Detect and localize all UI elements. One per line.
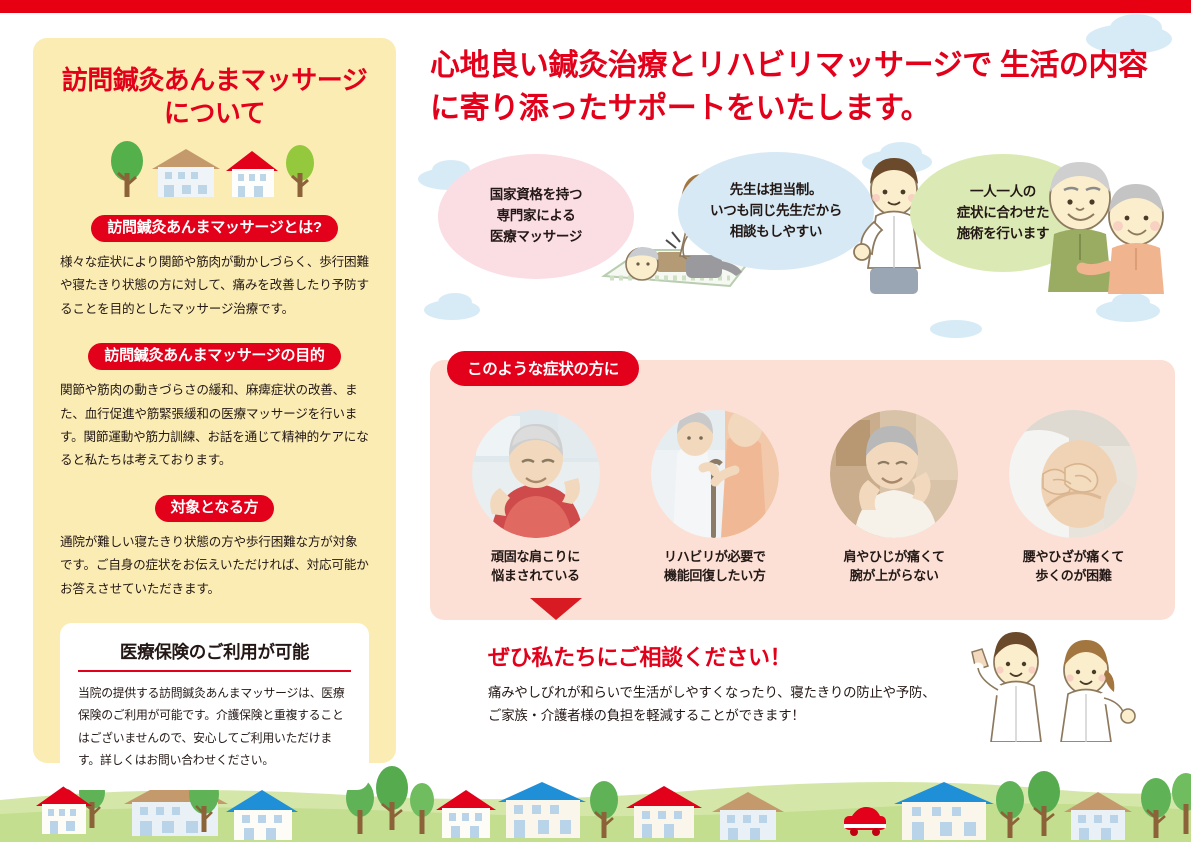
feature-bubble-qualified-label: 国家資格を持つ 専門家による 医療マッサージ [490,185,582,248]
symptom-item: 肩やひじが痛くて 腕が上がらない [811,410,978,586]
about-section-definition: 訪問鍼灸あんまマッサージとは? 様々な症状により関節や筋肉が動かしづらく、歩行困… [60,215,369,321]
feature-bubbles: 国家資格を持つ 専門家による 医療マッサージ [430,146,1175,311]
symptom-item: 腰やひざが痛くて 歩くのが困難 [990,410,1157,586]
cloud-icon [1110,14,1162,42]
elderly-woman-shoulder-pain-photo [472,410,600,538]
section-body-definition: 様々な症状により関節や筋肉が動かしづらく、歩行困難や寝たきり状態の方に対して、痛… [60,251,369,321]
insurance-title: 医療保険のご利用が可能 [78,639,351,672]
about-section-eligibility: 対象となる方 通院が難しい寝たきり状態の方や歩行困難な方が対象です。ご自身の症状… [60,495,369,601]
houses-and-trees-icon [60,139,369,201]
elderly-couple-icon [1028,154,1178,294]
cloud-icon [930,320,982,338]
symptom-item: 頑固な肩こりに 悩まされている [452,410,619,586]
main-headline: 心地良い鍼灸治療とリハビリマッサージで 生活の内容に寄り添ったサポートをいたしま… [430,45,1175,130]
elderly-woman-elbow-pain-photo [830,410,958,538]
main-content: 心地良い鍼灸治療とリハビリマッサージで 生活の内容に寄り添ったサポートをいたしま… [430,45,1175,311]
symptom-caption: リハビリが必要で 機能回復したい方 [631,548,798,586]
rehabilitation-walking-cane-photo [651,410,779,538]
page-title: 訪問鍼灸あんまマッサージ について [60,64,369,131]
symptom-caption: 腰やひざが痛くて 歩くのが困難 [990,548,1157,586]
feature-bubble-individual-care-label: 一人一人の 症状に合わせた 施術を行います [957,182,1049,245]
section-heading-eligibility: 対象となる方 [155,495,275,523]
about-panel: 訪問鍼灸あんまマッサージ について [33,38,396,763]
consultation-callout: ぜひ私たちにご相談ください！ 痛みやしびれが和らいで生活がしやすくなったり、寝た… [466,622,1142,742]
section-heading-purpose: 訪問鍼灸あんまマッサージの目的 [88,343,340,371]
symptoms-heading: このような症状の方に [447,351,639,386]
about-section-purpose: 訪問鍼灸あんまマッサージの目的 関節や筋肉の動きづらさの緩和、麻痺症状の改善、ま… [60,343,369,473]
insurance-card: 医療保険のご利用が可能 当院の提供する訪問鍼灸あんまマッサージは、医療保険のご利… [60,623,369,790]
symptoms-panel: このような症状の方に [430,360,1175,620]
two-staff-waving-icon [970,626,1136,742]
feature-bubble-same-therapist-label: 先生は担当制。 いつも同じ先生だから 相談もしやすい [710,180,842,243]
symptom-caption: 頑固な肩こりに 悩まされている [452,548,619,586]
feature-bubble-same-therapist: 先生は担当制。 いつも同じ先生だから 相談もしやすい [678,152,874,270]
top-accent-bar [0,0,1191,13]
insurance-body: 当院の提供する訪問鍼灸あんまマッサージは、医療保険のご利用が可能です。介護保険と… [78,682,351,772]
symptoms-photo-row: 頑固な肩こりに 悩まされている [452,410,1157,586]
section-body-purpose: 関節や筋肉の動きづらさの緩和、麻痺症状の改善、また、血行促進や筋緊張緩和の医療マ… [60,379,369,472]
symptom-caption: 肩やひじが痛くて 腕が上がらない [811,548,978,586]
down-arrow-icon [530,598,582,620]
section-body-eligibility: 通院が難しい寝たきり状態の方や歩行困難な方が対象です。ご自身の症状をお伝えいただ… [60,531,369,601]
knee-pain-hands-photo [1009,410,1137,538]
symptom-item: リハビリが必要で 機能回復したい方 [631,410,798,586]
section-heading-definition: 訪問鍼灸あんまマッサージとは? [91,215,337,243]
